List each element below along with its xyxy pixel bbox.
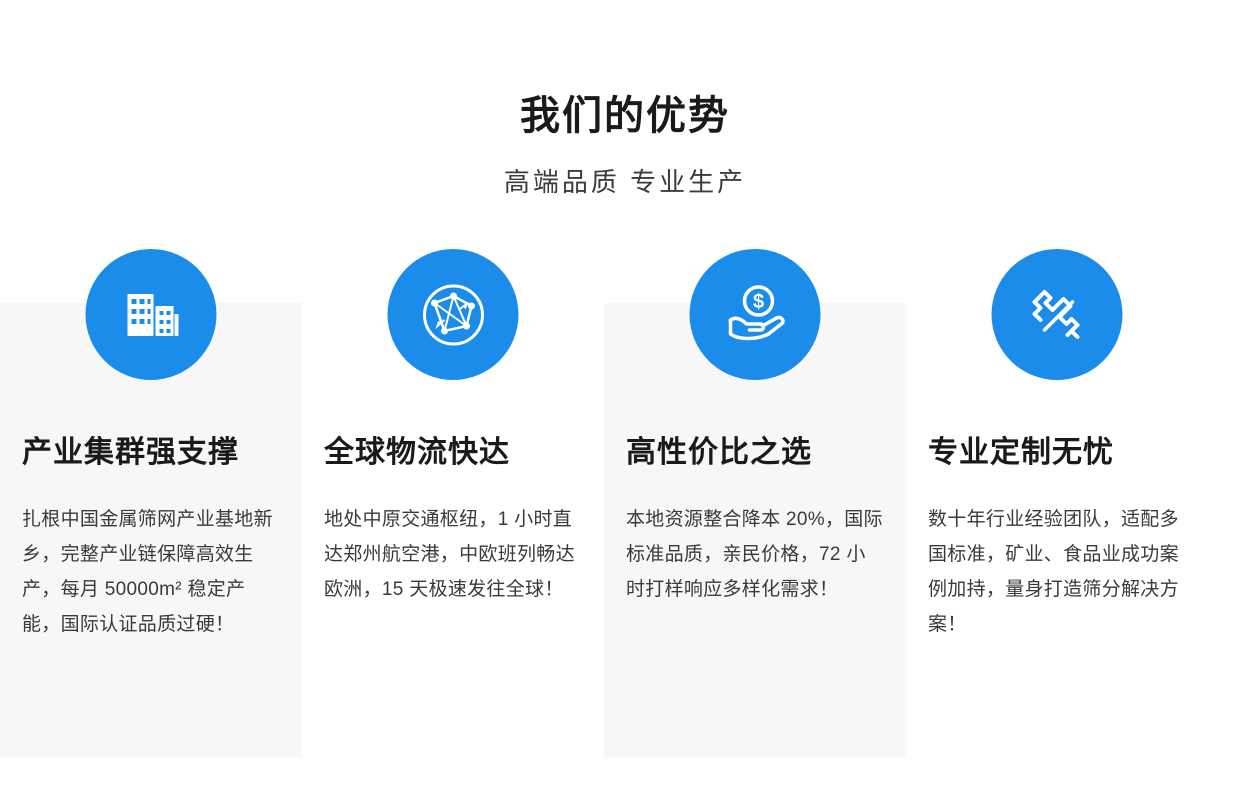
advantage-card-title: 高性价比之选	[626, 433, 884, 472]
advantage-card-text: 数十年行业经验团队，适配多国标准，矿业、食品业成功案例加持，量身打造筛分解决方案…	[928, 502, 1186, 643]
advantage-card-text: 扎根中国金属筛网产业基地新乡，完整产业链保障高效生产，每月 50000m² 稳定…	[22, 502, 280, 643]
advantages-section: 我们的优势 高端品质 专业生产	[0, 0, 1250, 809]
custom-tools-icon	[992, 249, 1123, 380]
advantage-card: $ 高性价比之选 本地资源整合降本 20%，国际标准品质，亲民价格，72 小时打…	[604, 303, 906, 758]
svg-text:$: $	[752, 291, 763, 313]
global-network-icon	[388, 249, 519, 380]
hand-money-icon: $	[690, 249, 821, 380]
page-title: 我们的优势	[0, 92, 1250, 140]
advantage-card: 专业定制无忧 数十年行业经验团队，适配多国标准，矿业、食品业成功案例加持，量身打…	[906, 303, 1208, 758]
advantage-card: 全球物流快达 地处中原交通枢纽，1 小时直达郑州航空港，中欧班列畅达欧洲，15 …	[302, 303, 604, 758]
advantage-card-text: 地处中原交通枢纽，1 小时直达郑州航空港，中欧班列畅达欧洲，15 天极速发往全球…	[324, 502, 582, 607]
advantage-card-title: 产业集群强支撑	[22, 433, 280, 472]
advantage-card: 产业集群强支撑 扎根中国金属筛网产业基地新乡，完整产业链保障高效生产，每月 50…	[0, 303, 302, 758]
advantage-card-list: 产业集群强支撑 扎根中国金属筛网产业基地新乡，完整产业链保障高效生产，每月 50…	[0, 303, 1250, 758]
advantage-card-text: 本地资源整合降本 20%，国际标准品质，亲民价格，72 小时打样响应多样化需求！	[626, 502, 884, 607]
advantage-card-title: 专业定制无忧	[928, 433, 1186, 472]
section-header: 我们的优势 高端品质 专业生产	[0, 0, 1250, 199]
page-subtitle: 高端品质 专业生产	[0, 162, 1250, 199]
factory-building-icon	[86, 249, 217, 380]
advantage-card-title: 全球物流快达	[324, 433, 582, 472]
